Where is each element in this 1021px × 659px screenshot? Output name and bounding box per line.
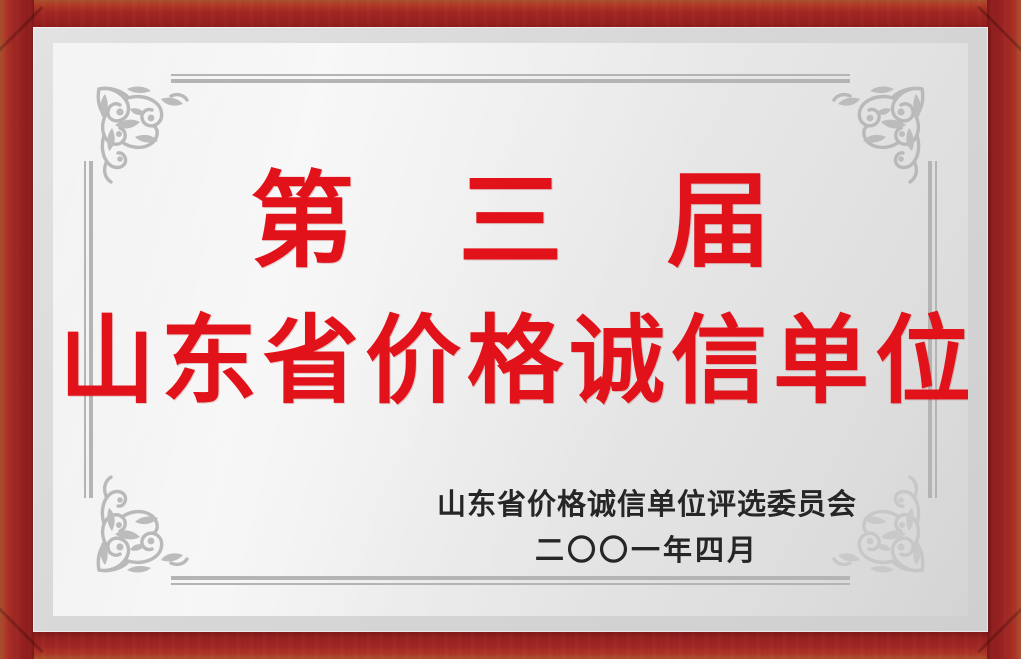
plaque-panel: 第 三 届 山东省价格诚信单位 山东省价格诚信单位评选委员会 二〇〇一年四月 bbox=[53, 43, 968, 616]
award-title-line-1: 第 三 届 bbox=[53, 165, 968, 277]
award-content: 第 三 届 山东省价格诚信单位 山东省价格诚信单位评选委员会 二〇〇一年四月 bbox=[53, 43, 968, 616]
frame-right-stile bbox=[987, 0, 1021, 659]
issue-date: 二〇〇一年四月 bbox=[412, 529, 882, 571]
issuing-organization: 山东省价格诚信单位评选委员会 bbox=[412, 483, 882, 525]
award-title-line-2: 山东省价格诚信单位 bbox=[53, 309, 968, 413]
award-signature-block: 山东省价格诚信单位评选委员会 二〇〇一年四月 bbox=[412, 483, 882, 571]
award-plaque: 第 三 届 山东省价格诚信单位 山东省价格诚信单位评选委员会 二〇〇一年四月 bbox=[0, 0, 1021, 659]
frame-left-stile bbox=[0, 0, 34, 659]
plaque-mat-bevel: 第 三 届 山东省价格诚信单位 山东省价格诚信单位评选委员会 二〇〇一年四月 bbox=[33, 27, 988, 632]
